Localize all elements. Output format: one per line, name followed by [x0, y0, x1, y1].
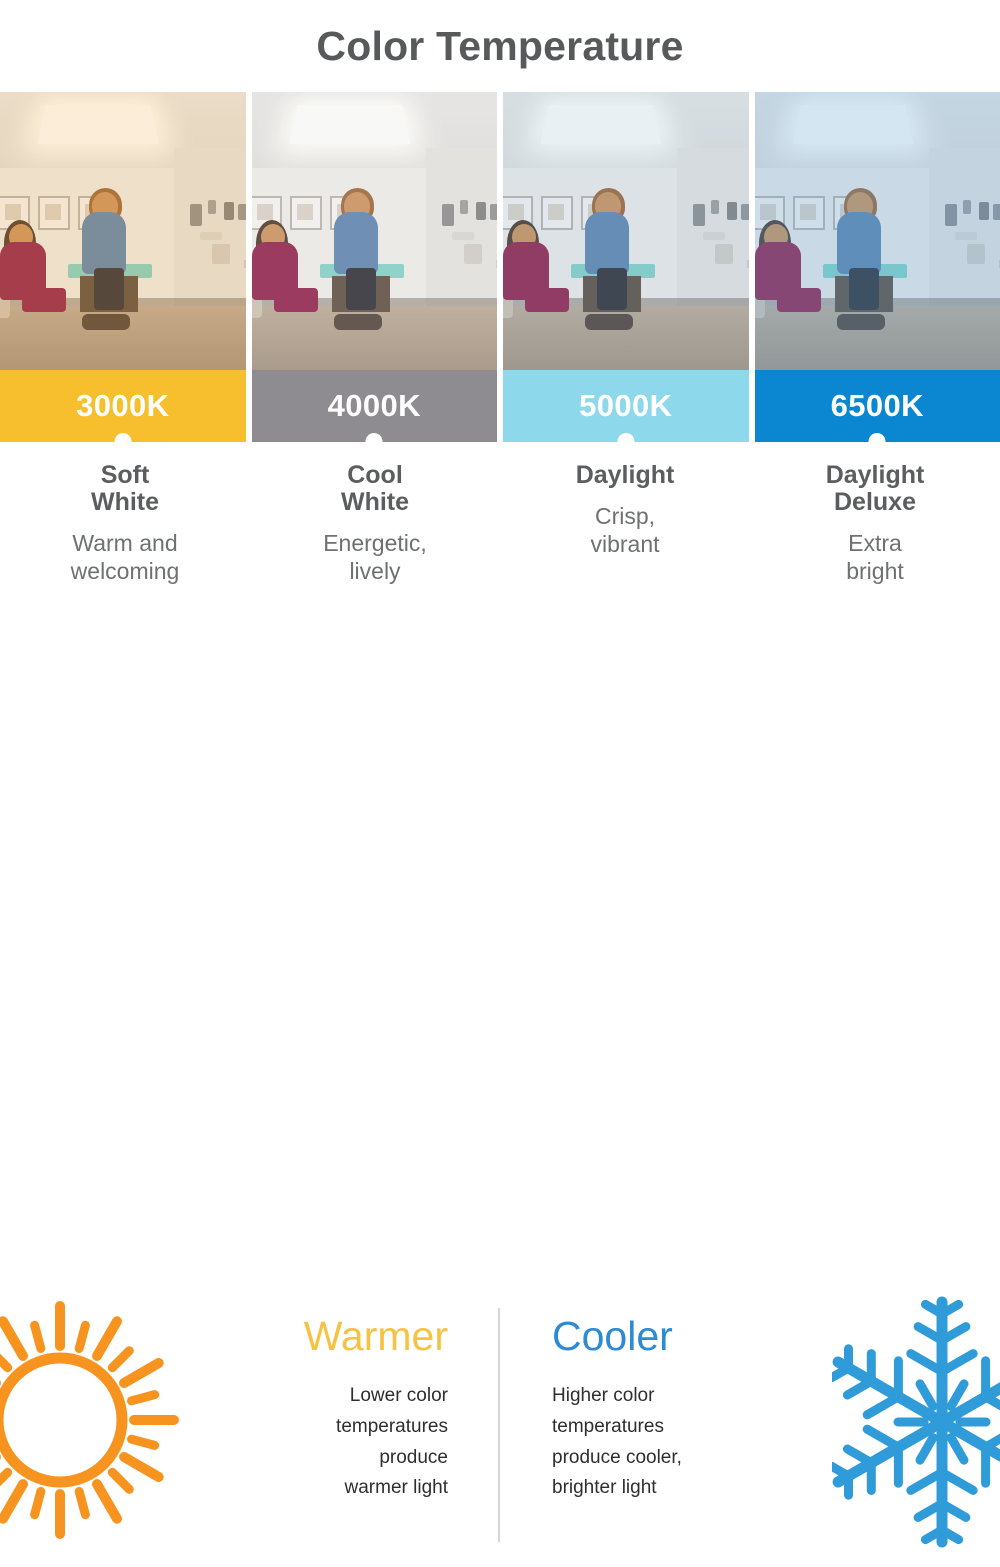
warmer-heading: Warmer — [200, 1316, 448, 1357]
description-5000k: Daylight Crisp, vibrant — [500, 462, 750, 622]
marker-dot-3000k — [114, 433, 131, 450]
sun-icon — [0, 1290, 180, 1550]
panel-5000k[interactable] — [503, 92, 749, 370]
warmer-body-text: Lower color temperatures produce warmer … — [200, 1381, 448, 1504]
warmer-column: Warmer Lower color temperatures produce … — [200, 1316, 448, 1504]
exam-room-photo-4000k — [252, 92, 498, 370]
kelvin-label-6500k: 6500K — [831, 388, 924, 424]
exam-room-photo-6500k — [755, 92, 1000, 370]
panel-6500k[interactable] — [755, 92, 1000, 370]
exam-room-photo-5000k — [503, 92, 749, 370]
cooler-column: Cooler Higher color temperatures produce… — [552, 1316, 802, 1504]
kelvin-label-3000k: 3000K — [76, 388, 169, 424]
color-temperature-panel-row — [0, 92, 1000, 370]
kelvin-label-4000k: 4000K — [328, 388, 421, 424]
description-name-4000k: Cool White — [266, 462, 484, 516]
marker-dot-5000k — [617, 433, 634, 450]
cooler-heading: Cooler — [552, 1316, 802, 1357]
description-text-5000k: Crisp, vibrant — [516, 503, 734, 558]
kelvin-band-6500k[interactable]: 6500K — [755, 370, 1000, 442]
description-row: Soft White Warm and welcoming Cool White… — [0, 442, 1000, 622]
page-title: Color Temperature — [316, 23, 683, 70]
description-name-6500k: Daylight Deluxe — [766, 462, 984, 516]
kelvin-label-5000k: 5000K — [579, 388, 672, 424]
marker-dot-6500k — [869, 433, 886, 450]
page-header: Color Temperature — [0, 0, 1000, 92]
kelvin-band-5000k[interactable]: 5000K — [503, 370, 749, 442]
exam-room-photo-3000k — [0, 92, 246, 370]
description-text-3000k: Warm and welcoming — [16, 530, 234, 585]
marker-dot-4000k — [366, 433, 383, 450]
description-name-3000k: Soft White — [16, 462, 234, 516]
description-3000k: Soft White Warm and welcoming — [0, 462, 250, 622]
kelvin-band-4000k[interactable]: 4000K — [252, 370, 498, 442]
panel-4000k[interactable] — [252, 92, 498, 370]
vertical-divider — [498, 1308, 500, 1542]
warm-cool-comparison: Warmer Lower color temperatures produce … — [0, 622, 1000, 952]
description-6500k: Daylight Deluxe Extra bright — [750, 462, 1000, 622]
description-4000k: Cool White Energetic, lively — [250, 462, 500, 622]
kelvin-band-row: 3000K 4000K 5000K 6500K — [0, 370, 1000, 442]
panel-3000k[interactable] — [0, 92, 246, 370]
cooler-body-text: Higher color temperatures produce cooler… — [552, 1381, 802, 1504]
description-text-4000k: Energetic, lively — [266, 530, 484, 585]
snowflake-icon — [832, 1282, 1000, 1562]
kelvin-band-3000k[interactable]: 3000K — [0, 370, 246, 442]
description-name-5000k: Daylight — [516, 462, 734, 489]
description-text-6500k: Extra bright — [766, 530, 984, 585]
